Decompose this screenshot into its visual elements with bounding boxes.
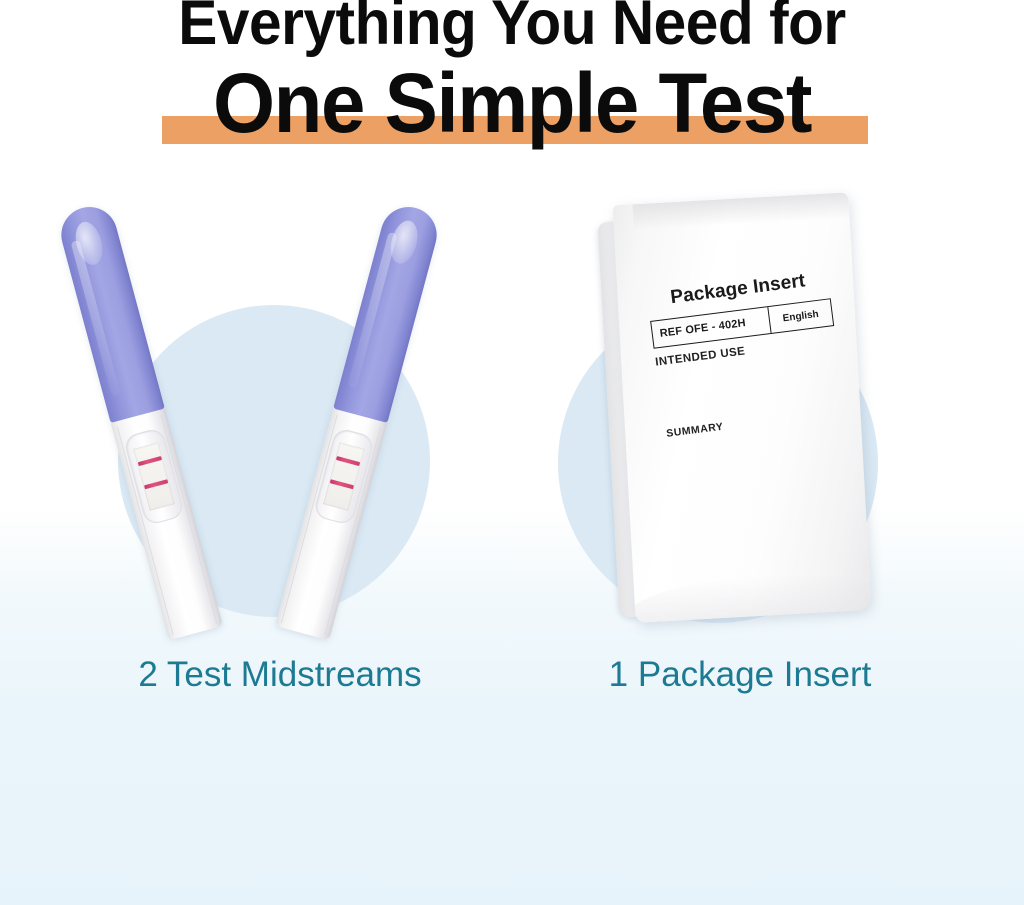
booklet-top-fold xyxy=(632,192,849,230)
test-line xyxy=(144,479,168,489)
package-insert-printed-label: Package Insert REF OFE - 402H English IN… xyxy=(646,267,845,440)
headline-line-2: One Simple Test xyxy=(26,61,999,145)
test-line xyxy=(330,479,354,489)
product-showcase: Package Insert REF OFE - 402H English IN… xyxy=(0,185,1024,655)
control-line xyxy=(336,456,360,466)
product-group-test-midstreams xyxy=(60,185,500,655)
insert-ref-code: REF OFE - 402H xyxy=(651,307,770,347)
booklet-front-face: Package Insert REF OFE - 402H English IN… xyxy=(613,192,872,623)
test-midstream-stick-right xyxy=(275,201,443,641)
caption-test-midstreams: 2 Test Midstreams xyxy=(60,655,500,695)
control-line xyxy=(138,456,162,466)
cap-edge-shine xyxy=(347,232,397,389)
stick-cap-left xyxy=(55,201,165,423)
insert-section-summary: SUMMARY xyxy=(666,405,846,439)
insert-language: English xyxy=(767,299,833,333)
package-insert-booklet-image: Package Insert REF OFE - 402H English IN… xyxy=(597,192,872,623)
product-group-package-insert: Package Insert REF OFE - 402H English IN… xyxy=(520,185,960,655)
caption-package-insert: 1 Package Insert xyxy=(520,655,960,695)
stick-cap-right xyxy=(333,201,443,423)
booklet-bottom-shading xyxy=(624,568,872,623)
headline-line-2-wrapper: One Simple Test xyxy=(0,61,1024,145)
test-midstream-pair-image xyxy=(60,185,500,655)
test-midstream-stick-left xyxy=(55,201,223,641)
product-captions: 2 Test Midstreams 1 Package Insert xyxy=(0,655,1024,725)
headline-line-1: Everything You Need for xyxy=(36,0,988,55)
headline-block: Everything You Need for One Simple Test xyxy=(0,0,1024,145)
